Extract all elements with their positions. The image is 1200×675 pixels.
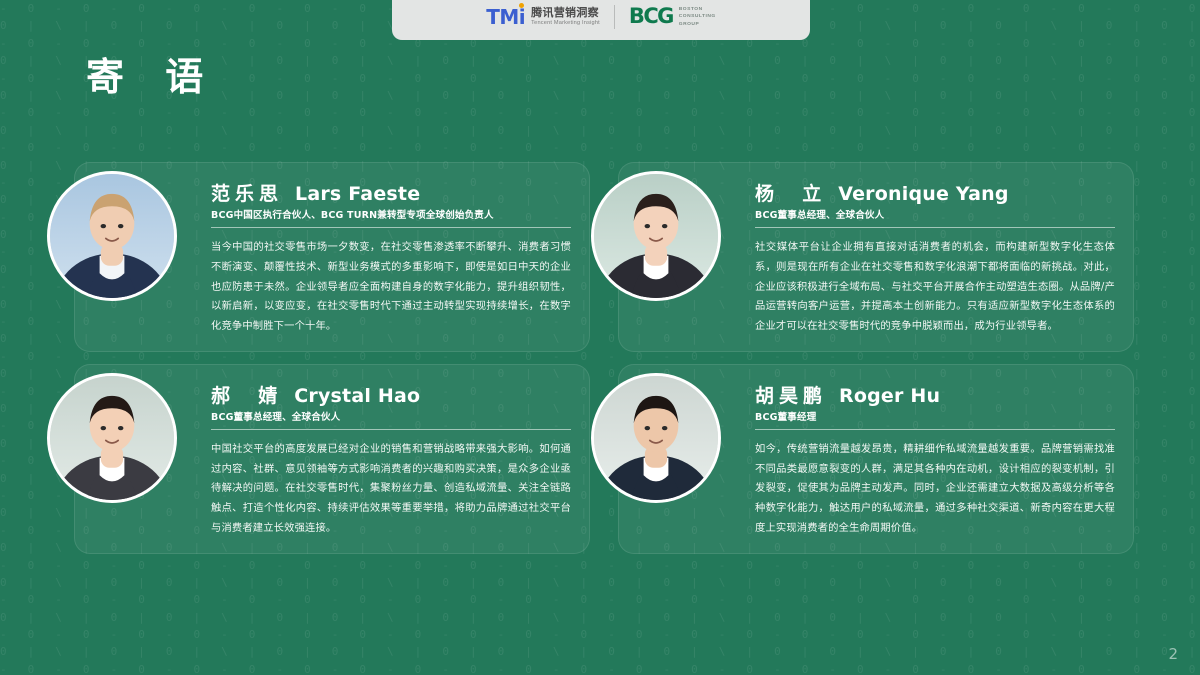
profile-name-en: Roger Hu: [839, 385, 940, 407]
logo-divider: [614, 5, 615, 29]
tmi-chinese-name: 腾讯营销洞察: [531, 8, 600, 19]
profile-card: 郝 婧Crystal HaoBCG董事总经理、全球合伙人中国社交平台的高度发展已…: [74, 364, 590, 554]
profile-name-cn: 胡昊鹏: [755, 381, 827, 408]
profile-card: 范乐思Lars FaesteBCG中国区执行合伙人、BCG TURN兼转型专项全…: [74, 162, 590, 352]
avatar-roger-hu: [591, 373, 721, 503]
profile-name-line: 胡昊鹏Roger Hu: [755, 381, 1115, 408]
profile-card: 胡昊鹏Roger HuBCG董事经理如今，传统营销流量越发昂贵，精耕细作私域流量…: [618, 364, 1134, 554]
tmi-text-block: 腾讯营销洞察 Tencent Marketing Insight: [531, 8, 600, 27]
profile-quote: 当今中国的社交零售市场一夕数变，在社交零售渗透率不断攀升、消费者习惯不断演变、颠…: [211, 238, 571, 337]
page-title: 寄 语: [86, 46, 217, 101]
bcg-line-2: CONSULTING: [679, 13, 716, 20]
tmi-english-name: Tencent Marketing Insight: [531, 21, 600, 27]
profile-card-grid: 范乐思Lars FaesteBCG中国区执行合伙人、BCG TURN兼转型专项全…: [74, 162, 1134, 554]
avatar-lars-faeste: [47, 171, 177, 301]
bcg-text-block: BOSTON CONSULTING GROUP: [679, 6, 716, 28]
tmi-wordmark-text: TMi: [486, 5, 525, 29]
slide-root: - 0 - 0 - 0 - 0 - 0 - 0 - 0 - 0 - 0 - 0 …: [0, 0, 1200, 675]
profile-name-line: 杨 立Veronique Yang: [755, 179, 1115, 206]
avatar-crystal-hao: [47, 373, 177, 503]
bcg-logo: BCG BOSTON CONSULTING GROUP: [629, 6, 716, 28]
tmi-wordmark-icon: TMi: [486, 7, 525, 27]
logo-bar: TMi 腾讯营销洞察 Tencent Marketing Insight BCG…: [392, 0, 810, 40]
profile-name-en: Lars Faeste: [295, 183, 420, 205]
profile-role: BCG董事总经理、全球合伙人: [755, 207, 1115, 228]
profile-quote: 如今，传统营销流量越发昂贵，精耕细作私域流量越发重要。品牌营销需找准不同品类最愿…: [755, 440, 1115, 539]
profile-role: BCG董事经理: [755, 409, 1115, 430]
profile-quote: 社交媒体平台让企业拥有直接对话消费者的机会，而构建新型数字化生态体系，则是现在所…: [755, 238, 1115, 337]
profile-quote: 中国社交平台的高度发展已经对企业的销售和营销战略带来强大影响。如何通过内容、社群…: [211, 440, 571, 539]
profile-card: 杨 立Veronique YangBCG董事总经理、全球合伙人社交媒体平台让企业…: [618, 162, 1134, 352]
logo-bar-inner: TMi 腾讯营销洞察 Tencent Marketing Insight BCG…: [486, 2, 715, 32]
avatar-veronique-yang: [591, 171, 721, 301]
profile-name-line: 范乐思Lars Faeste: [211, 179, 571, 206]
profile-role: BCG董事总经理、全球合伙人: [211, 409, 571, 430]
profile-name-cn: 范乐思: [211, 179, 283, 206]
profile-name-line: 郝 婧Crystal Hao: [211, 381, 571, 408]
profile-name-cn: 杨 立: [755, 179, 826, 206]
profile-name-en: Crystal Hao: [294, 385, 420, 407]
profile-name-cn: 郝 婧: [211, 381, 282, 408]
bcg-line-3: GROUP: [679, 21, 716, 28]
page-number: 2: [1168, 645, 1178, 663]
bcg-line-1: BOSTON: [679, 6, 716, 13]
tmi-logo: TMi 腾讯营销洞察 Tencent Marketing Insight: [486, 7, 600, 27]
profile-name-en: Veronique Yang: [838, 183, 1008, 205]
bcg-wordmark-icon: BCG: [629, 6, 673, 27]
profile-role: BCG中国区执行合伙人、BCG TURN兼转型专项全球创始负责人: [211, 207, 571, 228]
